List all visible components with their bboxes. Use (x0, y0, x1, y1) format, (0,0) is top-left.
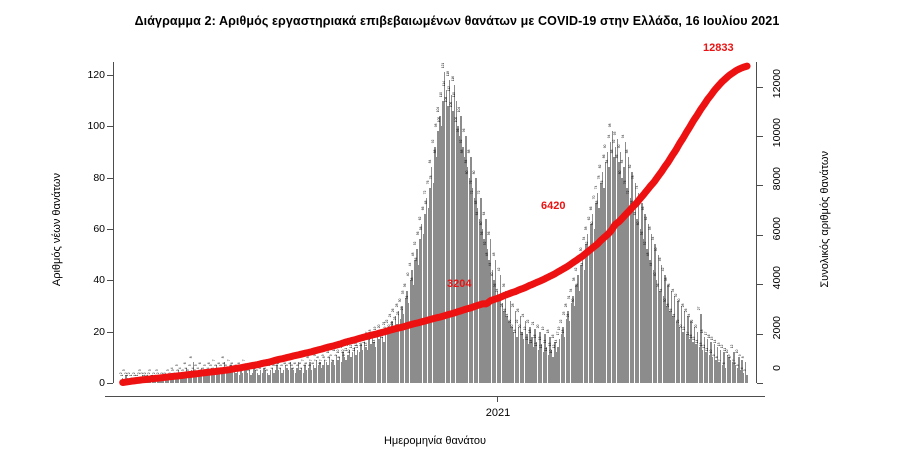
bar-value-label: 1 (166, 375, 169, 377)
x-axis-line (105, 396, 765, 397)
bar-value-label: 34 (570, 288, 573, 292)
bar-value-label: 62 (645, 216, 648, 220)
bar-value-label: 44 (650, 263, 653, 267)
bar-value-label: 24 (688, 314, 691, 318)
bar-value-label: 14 (373, 340, 376, 344)
bar-value-label: 84 (428, 160, 431, 164)
bar-value-label: 26 (517, 309, 520, 313)
bar-value-label: 40 (491, 273, 494, 277)
bar-value-label: 52 (586, 242, 589, 246)
bar-value-label: 17 (520, 332, 523, 336)
bar-value-label: 48 (492, 252, 495, 256)
bar-value-label: 20 (695, 324, 698, 328)
y-axis-left-tick-label: 60 (65, 224, 105, 235)
bar-value-label: 1 (146, 375, 149, 377)
y-axis-right-tick-label: 12000 (772, 69, 783, 98)
bar-value-label: 22 (560, 319, 563, 323)
bar-value-label: 30 (399, 299, 402, 303)
bar-value-label: 5 (281, 365, 284, 367)
annotation-total-final: 12833 (703, 42, 734, 54)
bar-value-label: 76 (469, 180, 472, 184)
bar-value-label: 62 (419, 216, 422, 220)
bar-value-label: 60 (637, 222, 640, 226)
y-axis-left-tick (107, 75, 113, 76)
bar-value-label: 110 (453, 92, 456, 97)
bar-value-label: 10 (736, 350, 739, 354)
bar-value-label: 86 (603, 155, 606, 159)
y-axis-left-tick-label: 20 (65, 327, 105, 338)
bar-value-label: 6 (184, 362, 187, 364)
bar-value-label: 28 (681, 304, 684, 308)
bar-value-label: 82 (599, 165, 602, 169)
bar-value-label: 36 (668, 283, 671, 287)
bar-value-label: 118 (446, 71, 449, 76)
bar-value-label: 80 (466, 170, 469, 174)
bar-value-label: 3 (156, 370, 159, 372)
bar-value-label: 74 (594, 186, 597, 190)
bar-value-label: 88 (626, 150, 629, 154)
y-axis-left-title: Αριθμός νέων θανάτων (51, 173, 63, 286)
bar-value-label: 7 (282, 359, 285, 361)
bar-value-label: 5 (267, 365, 270, 367)
bar-value-label: 21 (532, 322, 535, 326)
bar-value-label: 24 (673, 314, 676, 318)
y-axis-right-tick-label: 10000 (772, 118, 783, 147)
x-axis-tick-label: 2021 (472, 407, 524, 419)
bar-value-label: 32 (675, 293, 678, 297)
bar-value-label: 18 (514, 329, 517, 333)
bar-value-label: 5 (220, 365, 223, 367)
bar-value-label: 52 (644, 242, 647, 246)
bar-value-label: 6 (299, 362, 302, 364)
bar-value-label: 50 (655, 247, 658, 251)
bar-value-label: 36 (576, 283, 579, 287)
bar-value-label: 31 (499, 296, 502, 300)
bar-value-label: 7 (213, 359, 216, 361)
bar-value-label: 5 (285, 365, 288, 367)
bar-value-label: 24 (506, 314, 509, 318)
bar-value-label: 84 (465, 160, 468, 164)
bar-value-label: 23 (394, 317, 397, 321)
bar-value-label: 8 (287, 357, 290, 359)
bar-value-label: 2 (180, 372, 183, 374)
y-axis-left-tick-label: 40 (65, 275, 105, 286)
bar-value-label: 66 (642, 206, 645, 210)
bar-value-label: 10 (336, 350, 339, 354)
bar-value-label: 4 (212, 367, 215, 369)
bar-value-label: 66 (422, 206, 425, 210)
y-axis-right-tick (757, 185, 763, 186)
bar-value-label: 5 (189, 365, 192, 367)
bar-value-label: 74 (635, 186, 638, 190)
bar-value-label: 1 (136, 375, 139, 377)
bar-value-label: 48 (647, 252, 650, 256)
bar-value-label: 4 (279, 367, 282, 369)
bar-value-label: 38 (573, 278, 576, 282)
bar-value-label: 64 (483, 211, 486, 215)
bar-value-label: 10 (550, 350, 553, 354)
bar-value-label: 4 (300, 367, 303, 369)
bar-value-label: 7 (274, 359, 277, 361)
bar-value-label: 6 (723, 362, 726, 364)
bar-value-label: 10 (348, 350, 351, 354)
bar-value-label: 60 (591, 222, 594, 226)
y-axis-right-tick-label: 2000 (772, 316, 783, 339)
plot-area: 2132121021123212123121321212132432534236… (113, 55, 757, 383)
bar-value-label: 5 (203, 365, 206, 367)
bar-value-label: 7 (315, 359, 318, 361)
bar-value-label: 27 (698, 306, 701, 310)
bar-value-label: 72 (423, 191, 426, 195)
bar-value-label: 10 (726, 350, 729, 354)
bar-value-label: 46 (658, 258, 661, 262)
bar-value-label: 36 (404, 283, 407, 287)
bar-value-label: 54 (583, 237, 586, 241)
bar-value-label: 80 (619, 170, 622, 174)
bar-value-label: 5 (276, 365, 279, 367)
bar-value-label: 24 (522, 314, 525, 318)
bar-value-label: 4 (207, 367, 210, 369)
bar-value-label: 58 (420, 227, 423, 231)
bar-value-label: 52 (484, 242, 487, 246)
y-axis-left-tick (107, 280, 113, 281)
bar-value-label: 6 (198, 362, 201, 364)
bar-value-label: 60 (479, 222, 482, 226)
bar-value-label: 98 (435, 124, 438, 128)
bar-value-label: 8 (221, 357, 224, 359)
bar-value-label: 5 (304, 365, 307, 367)
bar-value-label: 82 (629, 165, 632, 169)
y-axis-left-tick-label: 100 (65, 121, 105, 132)
bar-value-label: 16 (534, 335, 537, 339)
bar-value-label: 15 (538, 337, 541, 341)
bar-value-label: 54 (652, 237, 655, 241)
bar-value-label: 3 (123, 370, 126, 372)
bar-value-label: 31 (405, 296, 408, 300)
bar-value-label: 76 (601, 180, 604, 184)
bar-value-label: 8 (742, 357, 745, 359)
bar-value-label: 6 (312, 362, 315, 364)
bar-value-label: 5 (262, 365, 265, 367)
bar-value-label: 94 (622, 134, 625, 138)
bar-value-label: 30 (571, 299, 574, 303)
bar-value-label: 34 (496, 288, 499, 292)
bar-value-label: 64 (476, 211, 479, 215)
y-axis-right-tick (757, 284, 763, 285)
bar-value-label: 2 (169, 372, 172, 374)
bar-value-label: 44 (409, 263, 412, 267)
bar-value-label: 26 (670, 309, 673, 313)
bar-value-label: 18 (547, 329, 550, 333)
y-axis-right-tick-label: 4000 (772, 266, 783, 289)
bar-value-label: 78 (430, 175, 433, 179)
bar-value-label: 121 (442, 63, 445, 68)
bar-value-label: 38 (665, 278, 668, 282)
bar-value-label: 7 (719, 359, 722, 361)
bar-value-label: 12 (731, 345, 734, 349)
bar-value-label: 72 (478, 191, 481, 195)
bar-value-label: 7 (325, 359, 328, 361)
bar-value-label: 6 (318, 362, 321, 364)
bar-value-label: 70 (593, 196, 596, 200)
bar-value-label: 112 (448, 86, 451, 91)
bar-value-label: 46 (578, 258, 581, 262)
bar-value-label: 96 (456, 129, 459, 133)
bar-series: 2132121021123212123121321212132432534236… (113, 55, 757, 383)
bar-value-label: 30 (678, 299, 681, 303)
y-axis-left-tick (107, 126, 113, 127)
bar-value-label: 88 (461, 150, 464, 154)
bar-value-label: 3 (139, 370, 142, 372)
x-axis-title: Ημερομηνία θανάτου (285, 435, 585, 447)
bar-value-label: 11 (545, 348, 548, 351)
bar-value-label: 36 (494, 283, 497, 287)
y-axis-left-tick-label: 80 (65, 173, 105, 184)
bar-value-label: 86 (616, 155, 619, 159)
bar-value-label: 96 (463, 129, 466, 133)
bar-value-label: 33 (402, 291, 405, 295)
bar-value-label: 34 (672, 288, 675, 292)
bar-value-label: 7 (228, 359, 231, 361)
bar-value-label: 30 (663, 299, 666, 303)
bar-value-label: 62 (588, 216, 591, 220)
bar-value-label: 3 (172, 370, 175, 372)
bar-value-label: 3 (182, 370, 185, 372)
bar-value-label: 36 (657, 283, 660, 287)
bar (746, 375, 747, 383)
bar-value-label: 20 (511, 324, 514, 328)
bar-value-label: 95 (614, 132, 617, 136)
bar-value-label: 104 (458, 107, 461, 112)
y-axis-right-title: Συνολικός αριθμός θανάτων (819, 151, 831, 288)
bar-value-label: 20 (537, 324, 540, 328)
bar-value-label: 28 (501, 304, 504, 308)
bar-value-label: 7 (331, 359, 334, 361)
bar-value-label: 5 (215, 365, 218, 367)
bar-value-label: 94 (607, 134, 610, 138)
bar-value-label: 24 (389, 314, 392, 318)
y-axis-left-tick (107, 332, 113, 333)
bar-value-label: 88 (468, 150, 471, 154)
bar-value-label: 58 (584, 227, 587, 231)
bar-value-label: 56 (640, 232, 643, 236)
bar-value-label: 100 (438, 117, 441, 122)
bar-value-label: 44 (489, 263, 492, 267)
bar-value-label: 28 (512, 304, 515, 308)
bar-value-label: 80 (473, 170, 476, 174)
bar-value-label: 5 (290, 365, 293, 367)
y-axis-right-tick (757, 235, 763, 236)
bar-value-label: 12 (553, 345, 556, 349)
bar-value-label: 5 (235, 365, 238, 367)
bar-value-label: 5 (253, 365, 256, 367)
bar-value-label: 56 (481, 232, 484, 236)
bar-value-label: 104 (437, 107, 440, 112)
bar-value-label: 17 (557, 332, 560, 336)
x-axis-tick (497, 396, 498, 402)
bar-value-label: 38 (410, 278, 413, 282)
bar-value-label: 4 (271, 367, 274, 369)
bar-value-label: 20 (377, 324, 380, 328)
bar-value-label: 108 (445, 97, 448, 102)
bar-value-label: 56 (488, 232, 491, 236)
bar-value-label: 68 (596, 201, 599, 205)
bar-value-label: 5 (195, 365, 198, 367)
bar-value-label: 68 (425, 201, 428, 205)
y-axis-right-tick (757, 383, 763, 384)
bar-value-label: 5 (225, 365, 228, 367)
bar-value-label: 84 (606, 160, 609, 164)
bar-value-label: 100 (455, 117, 458, 122)
bar-value-label: 18 (561, 329, 564, 333)
bar-value-label: 88 (433, 150, 436, 154)
bar-value-label: 14 (543, 340, 546, 344)
bar-value-label: 42 (662, 268, 665, 272)
y-axis-left-tick (107, 229, 113, 230)
bar-value-label: 40 (407, 273, 410, 277)
annotation-total-early: 3204 (447, 278, 471, 290)
y-axis-right-tick (757, 334, 763, 335)
bar-value-label: 90 (617, 145, 620, 149)
annotation-total-mid: 6420 (541, 200, 565, 212)
bar-value-label: 22 (527, 319, 530, 323)
y-axis-left-tick-label: 0 (65, 378, 105, 389)
bar-value-label: 90 (604, 145, 607, 149)
bar-value-label: 20 (519, 324, 522, 328)
bar-value-label: 76 (624, 180, 627, 184)
bar-value-label: 88 (611, 150, 614, 154)
bar-value-label: 72 (471, 191, 474, 195)
bar-value-label: 22 (509, 319, 512, 323)
bar-value-label: 78 (598, 175, 601, 179)
bar-value-label: 14 (555, 340, 558, 344)
bar-value-label: 56 (417, 232, 420, 236)
bar-value-label: 34 (660, 288, 663, 292)
bar-value-label: 4 (226, 367, 229, 369)
bar-value-label: 22 (676, 319, 679, 323)
bar-value-label: 64 (634, 211, 637, 215)
y-axis-right-tick (757, 136, 763, 137)
bar-value-label: 40 (653, 273, 656, 277)
bar-value-label: 5 (241, 365, 244, 367)
bar-value-label: 78 (632, 175, 635, 179)
y-axis-left-tick (107, 178, 113, 179)
bar-value-label: 5 (258, 365, 261, 367)
bar-value-label: 12 (340, 345, 343, 349)
bar-value-label: 116 (451, 76, 454, 81)
bar-value-label: 5 (737, 365, 740, 367)
bar-value-label: 46 (415, 258, 418, 262)
bar-value-label: 70 (639, 196, 642, 200)
bar-value-label: 48 (486, 252, 489, 256)
bar-value-label: 7 (732, 359, 735, 361)
bar-value-label: 16 (552, 335, 555, 339)
bar-value-label: 92 (612, 139, 615, 143)
bar-value-label: 5 (175, 365, 178, 367)
bar-value-label: 92 (460, 139, 463, 143)
bar-value-label: 9 (330, 354, 333, 356)
bar-value-label: 21 (391, 322, 394, 326)
bar-value-label: 8 (190, 357, 193, 359)
bar-value-label: 7 (302, 359, 305, 361)
bar-value-label: 10 (709, 350, 712, 354)
bar-value-label: 22 (386, 319, 389, 323)
y-axis-right-tick-label: 8000 (772, 167, 783, 190)
bar-value-label: 5 (308, 365, 311, 367)
bar-value-label: 16 (371, 335, 374, 339)
bar-value-label: 42 (497, 268, 500, 272)
bar-value-label: 13 (364, 342, 367, 346)
bar-value-label: 110 (440, 92, 443, 97)
bar-value-label: 92 (432, 139, 435, 143)
bar-value-label: 22 (691, 319, 694, 323)
bar-value-label: 24 (566, 314, 569, 318)
bar-value-label: 4 (292, 367, 295, 369)
bar-value-label: 28 (396, 304, 399, 308)
bar-value-label: 5 (297, 365, 300, 367)
bar-value-label: 2 (174, 372, 177, 374)
bar-value-label: 22 (515, 319, 518, 323)
chart-root: Διάγραμμα 2: Αριθμός εργαστηριακά επιβεβ… (0, 0, 914, 464)
bar-value-label: 0 (131, 377, 134, 379)
y-axis-right-tick (757, 87, 763, 88)
bar-value-label: 9 (343, 354, 346, 356)
bar-value-label: 42 (575, 268, 578, 272)
bar-value-label: 19 (542, 327, 545, 331)
bar-value-label: 36 (502, 283, 505, 287)
bar-value-label: 25 (397, 311, 400, 315)
bar-value-label: 5 (230, 365, 233, 367)
bar-value-label: 26 (504, 309, 507, 313)
y-axis-right-tick-label: 0 (772, 365, 783, 371)
bar-value-label: 72 (627, 191, 630, 195)
bar-value-label: 68 (630, 201, 633, 205)
bar-value-label: 50 (580, 247, 583, 251)
bar-value-label: 19 (683, 327, 686, 331)
bar-value-label: 28 (667, 304, 670, 308)
bar-value-label: 16 (381, 335, 384, 339)
bar-value-label: 32 (507, 293, 510, 297)
bar-value-label: 10 (327, 350, 330, 354)
bar-value-label: 76 (427, 180, 430, 184)
bar-value-label: 68 (474, 201, 477, 205)
bar-value-label: 5 (210, 365, 213, 367)
bar-value-label: 19 (524, 327, 527, 331)
bar-value-label: 44 (581, 263, 584, 267)
bar-value-label: 66 (589, 206, 592, 210)
bar-value-label: 8 (295, 357, 298, 359)
bar-value-label: 4 (239, 367, 242, 369)
bar-value-label: 4 (216, 367, 219, 369)
page-title: Διάγραμμα 2: Αριθμός εργαστηριακά επιβεβ… (0, 14, 914, 28)
bar-value-label: 7 (320, 359, 323, 361)
bar-value-label: 7 (243, 359, 246, 361)
bar-value-label: 27 (400, 306, 403, 310)
y-axis-left-tick-label: 120 (65, 70, 105, 81)
y-axis-right-tick-label: 6000 (772, 217, 783, 240)
bar-value-label: 98 (609, 124, 612, 128)
bar-value-label: 18 (529, 329, 532, 333)
bar-value-label: 16 (361, 335, 364, 339)
bar-value-label: 26 (685, 309, 688, 313)
bar-value-label: 1 (154, 375, 157, 377)
bar-value-label: 48 (412, 252, 415, 256)
bar-value-label: 58 (649, 227, 652, 231)
bar-value-label: 84 (621, 160, 624, 164)
bar-value-label: 106 (450, 102, 453, 107)
y-axis-left-tick (107, 383, 113, 384)
bar-value-label: 3 (149, 370, 152, 372)
